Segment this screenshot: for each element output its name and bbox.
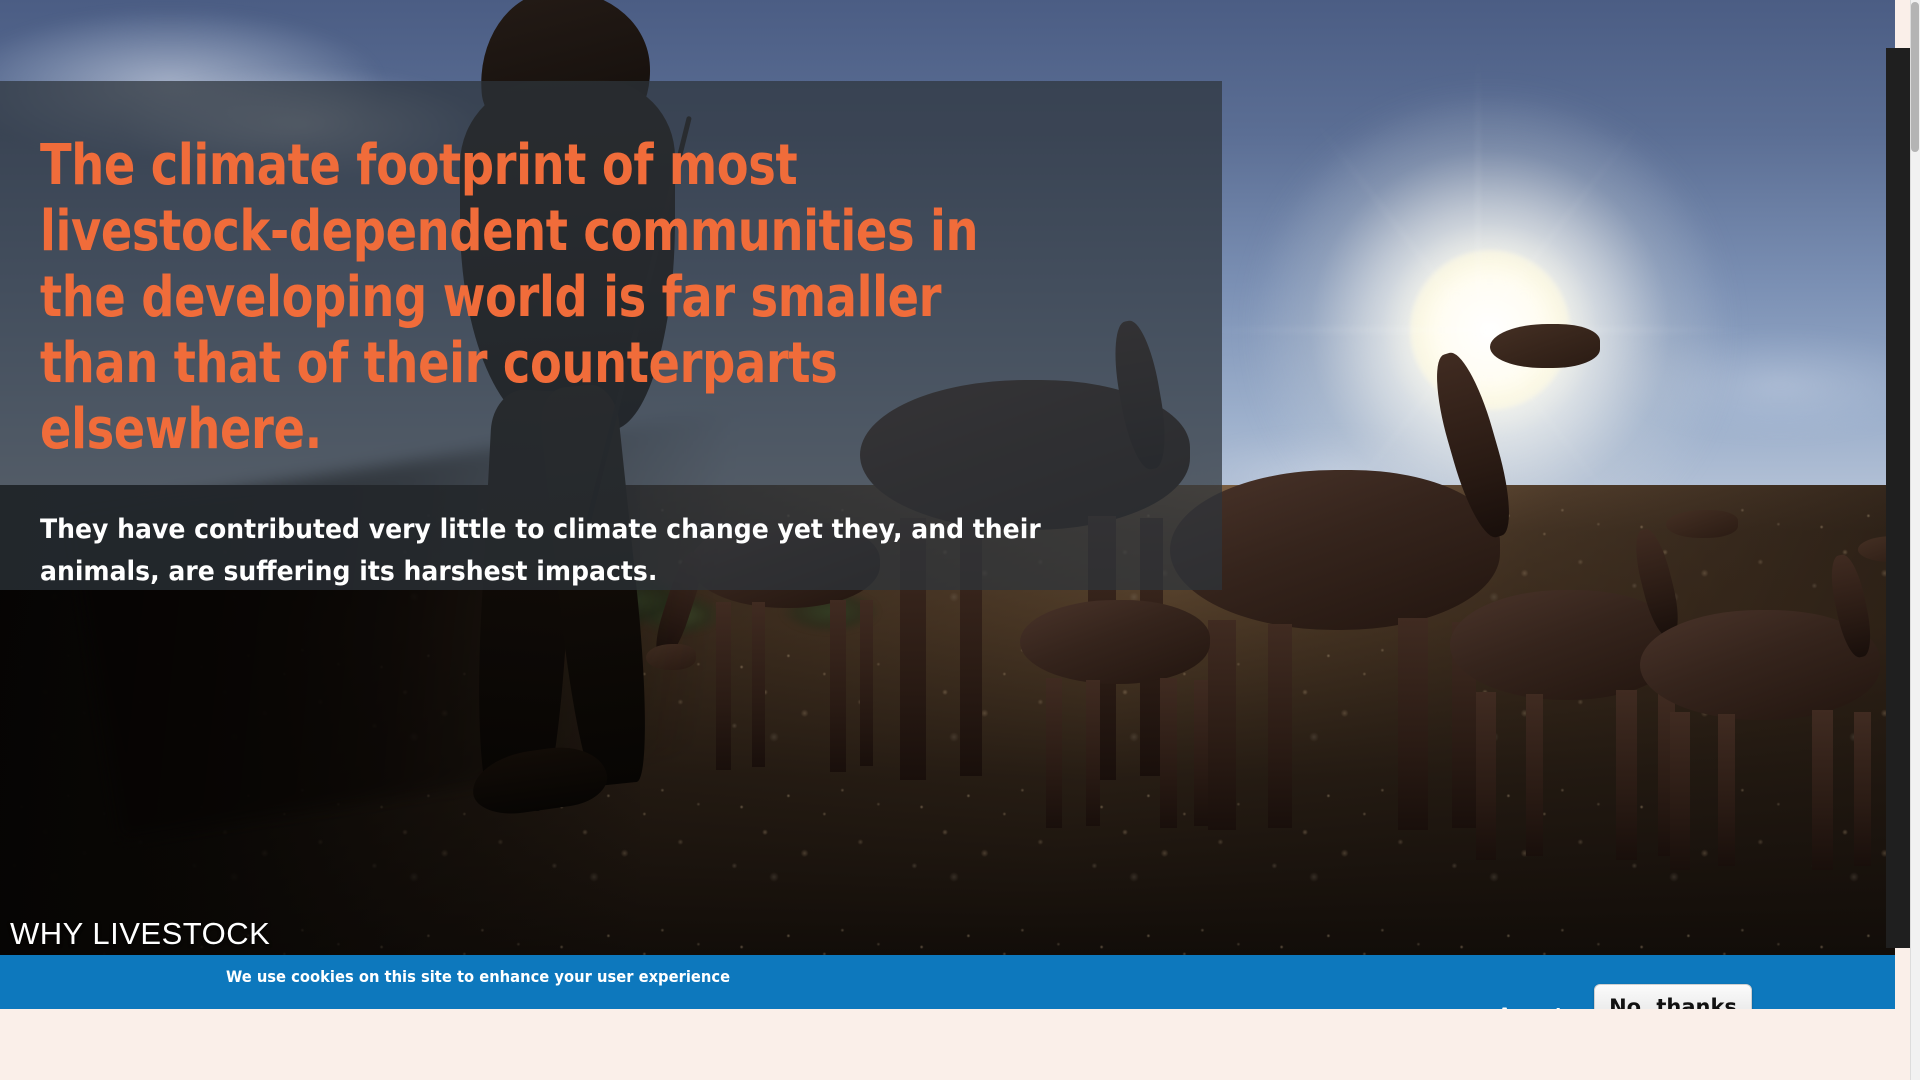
status-bar-url: //whylivestockmatter-staging.fabiofidanz… xyxy=(1886,48,1910,948)
page-root: The climate footprint of most livestock-… xyxy=(0,0,1920,1080)
page-content-below-fold xyxy=(0,1009,1895,1080)
status-bar-url-text: //whylivestockmatter-staging.fabiofidanz… xyxy=(1886,61,1891,942)
cookie-message: We use cookies on this site to enhance y… xyxy=(226,967,730,986)
hero-banner-image: The climate footprint of most livestock-… xyxy=(0,0,1895,955)
scrollbar-thumb[interactable] xyxy=(1911,2,1919,152)
page-scrollbar[interactable] xyxy=(1910,0,1920,1080)
hero-subheading: They have contributed very little to cli… xyxy=(40,509,1119,593)
cookie-decline-button[interactable]: No, thanks xyxy=(1594,984,1752,1009)
cookie-consent-banner: We use cookies on this site to enhance y… xyxy=(0,955,1895,1009)
section-label-why-livestock: WHY LIVESTOCK xyxy=(10,916,270,952)
camel-silhouette xyxy=(1630,610,1895,870)
page-title: The climate footprint of most livestock-… xyxy=(40,133,1052,463)
camel-silhouette xyxy=(1010,600,1240,830)
hero-text-overlay: The climate footprint of most livestock-… xyxy=(0,81,1222,590)
